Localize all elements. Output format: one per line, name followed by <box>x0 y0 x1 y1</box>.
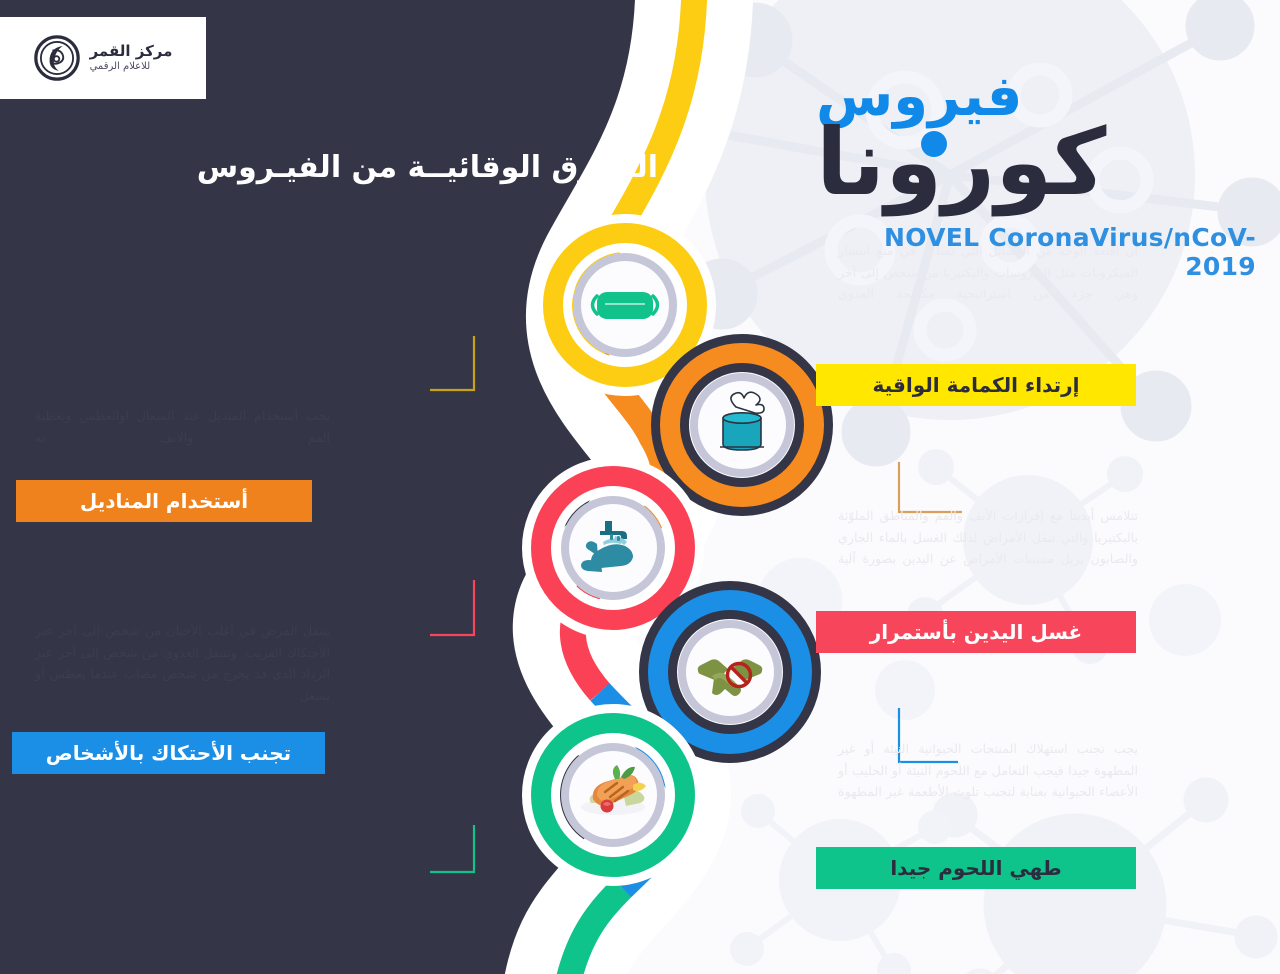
step-03-body: تتلامس أيدينا مع إفرازات الأنف والفم وال… <box>838 505 1138 570</box>
section-heading-text: الطـرق الوقائيــة من الفيـروس <box>197 150 658 185</box>
logo-subtitle: للاعلام الرقمي <box>90 62 151 73</box>
title-accent-dot-icon <box>921 131 947 157</box>
title-line-corona: كورونا <box>816 117 1256 209</box>
brand-logo: مركز القمر للاعلام الرقمي <box>0 17 206 99</box>
title-corona-text: كورونا <box>816 109 1106 216</box>
step-02-body: يجب أستخدام المنديل عند السعال اوالعطس و… <box>35 405 330 448</box>
infographic-canvas: مركز القمر للاعلام الرقمي الطـرق الوقائي… <box>0 0 1280 974</box>
moon-monogram-icon <box>34 35 80 81</box>
logo-title: مركز القمر <box>90 44 173 60</box>
step-01-label[interactable]: إرتداء الكمامة الواقية <box>816 364 1136 406</box>
title-subtitle: NOVEL CoronaVirus/nCoV-2019 <box>816 223 1256 281</box>
logo-text-block: مركز القمر للاعلام الرقمي <box>90 44 173 72</box>
step-05-body: يجب تجنب استهلاك المنتجات الحيوانية الني… <box>838 738 1138 803</box>
bullet-dot-icon <box>669 160 684 175</box>
step-02-label[interactable]: أستخدام المناديل <box>16 480 312 522</box>
step-05-label[interactable]: طهي اللحوم جيدا <box>816 847 1136 889</box>
face-mask-icon <box>593 292 658 319</box>
main-title-block: فيروس كورونا NOVEL CoronaVirus/nCoV-2019 <box>816 70 1256 281</box>
step-04-label[interactable]: تجنب الأحتكاك بالأشخاص <box>12 732 325 774</box>
step-03-label[interactable]: غسل اليدين بأستمرار <box>816 611 1136 653</box>
step-04-body: ينتقل المرض في أغلب الأحيان من شخص إلى آ… <box>35 620 330 707</box>
section-heading: الطـرق الوقائيــة من الفيـروس <box>197 150 684 185</box>
